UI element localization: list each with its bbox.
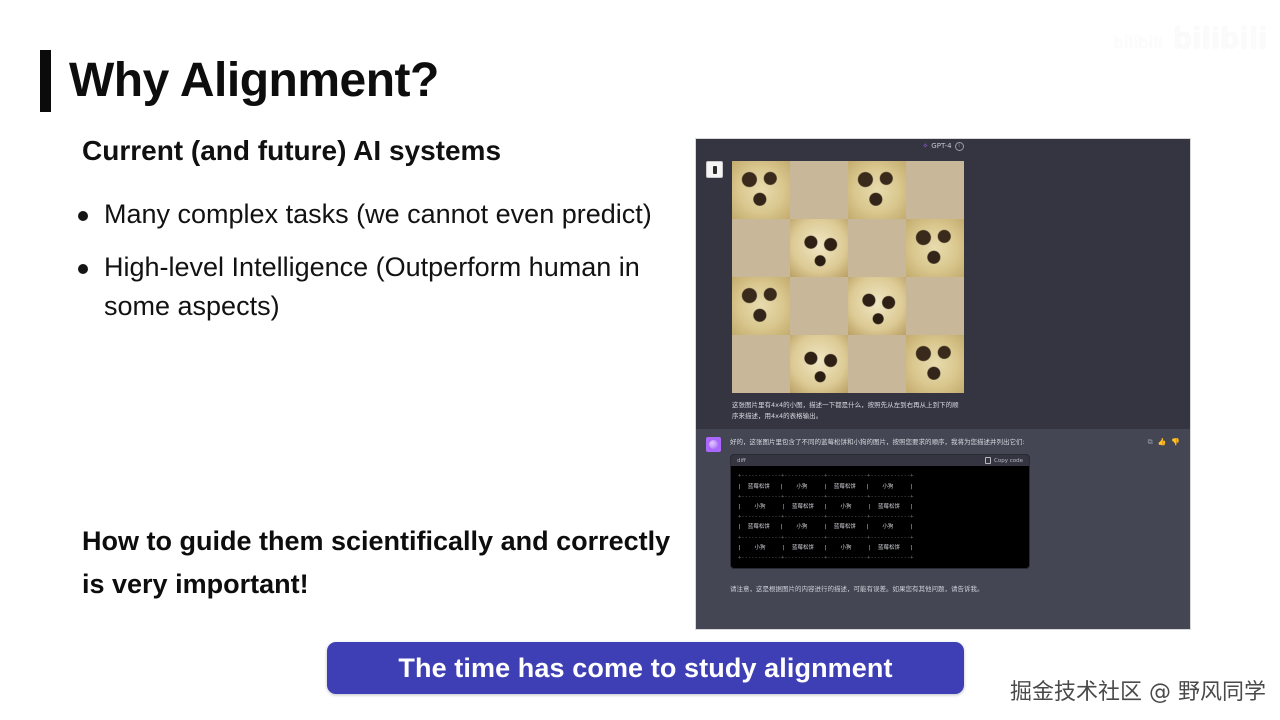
thumbs-up-icon[interactable]: 👍 [1158,438,1167,447]
grid-cell [906,335,964,393]
table-divider: +------------+------------+------------+… [738,555,914,561]
table-row: | 小狗 | 蓝莓松饼 | 小狗 | 蓝莓松饼 | [738,545,913,551]
grid-cell [732,161,790,219]
slide-title-row: Why Alignment? [40,50,439,112]
grid-cell [732,277,790,335]
sparkle-icon: ✧ [922,142,928,150]
subtitle-banner: The time has come to study alignment [327,642,964,694]
avatar [706,161,723,178]
assistant-reply-text: 好的，这张图片里包含了不同的蓝莓松饼和小狗的图片，按照您要求的顺序，我将为您描述… [730,437,1180,448]
user-message-body: 这张图片里有4x4的小图，描述一下都是什么，按照先从左到右再从上到下的顺序来描述… [732,161,1180,421]
grid-cell [848,161,906,219]
message-action-bar[interactable]: ⧉ 👍 👎 [1148,438,1180,447]
info-icon: i [955,142,964,151]
code-block-header: diff Copy code [731,455,1029,466]
grid-cell [848,335,906,393]
copy-icon[interactable]: ⧉ [1148,438,1153,447]
title-accent-bar [40,50,51,112]
table-row: | 小狗 | 蓝莓松饼 | 小狗 | 蓝莓松饼 | [738,504,913,510]
code-block: diff Copy code +------------+-----------… [730,454,1030,569]
copy-code-button[interactable]: Copy code [985,457,1023,464]
grid-cell [790,219,848,277]
conclusion-text: How to guide them scientifically and cor… [82,520,682,606]
code-language-label: diff [737,458,746,464]
table-row: | 蓝莓松饼 | 小狗 | 蓝莓松饼 | 小狗 | [738,524,913,530]
author-watermark: 掘金技术社区 @ 野风同学 [1010,674,1266,706]
thumbs-down-icon[interactable]: 👎 [1171,438,1180,447]
copy-code-label: Copy code [994,458,1023,464]
bullet-dot-icon [78,264,88,274]
copy-icon [985,457,991,464]
subtitle-text: The time has come to study alignment [398,653,892,684]
table-divider: +------------+------------+------------+… [738,535,914,541]
grid-cell [848,277,906,335]
table-divider: +------------+------------+------------+… [738,514,914,520]
bullet-text: Many complex tasks (we cannot even predi… [104,195,652,234]
chat-background-filler [696,594,1190,630]
assistant-note-text: 请注意，这是根据图片的内容进行的描述，可能有误差。如果您有其他问题，请告诉我。 [696,577,1190,594]
watermark-logo-text: bilibili [1173,22,1268,55]
grid-cell [732,335,790,393]
model-badge: ✧ GPT-4 i [922,142,963,151]
avatar [706,437,721,452]
bullet-list: Many complex tasks (we cannot even predi… [78,195,688,340]
grid-cell [790,277,848,335]
table-row: | 蓝莓松饼 | 小狗 | 蓝莓松饼 | 小狗 | [738,484,913,490]
user-message: 这张图片里有4x4的小图，描述一下都是什么，按照先从左到右再从上到下的顺序来描述… [696,153,1190,429]
chihuahua-vs-muffin-grid [732,161,964,393]
bilibili-watermark: bilibilibilibili [1114,22,1268,56]
code-block-body: +------------+------------+------------+… [731,466,1029,568]
table-divider: +------------+------------+------------+… [738,473,914,479]
list-item: High-level Intelligence (Outperform huma… [78,248,688,326]
bullet-text: High-level Intelligence (Outperform huma… [104,248,688,326]
chatgpt-screenshot: ✧ GPT-4 i [695,138,1191,630]
model-name: GPT-4 [931,142,951,150]
grid-cell [848,219,906,277]
watermark-small-text: bilibili [1114,33,1164,52]
grid-cell [790,161,848,219]
bullet-dot-icon [78,211,88,221]
presentation-slide: Why Alignment? Current (and future) AI s… [0,0,1280,720]
grid-cell [906,277,964,335]
table-divider: +------------+------------+------------+… [738,494,914,500]
list-item: Many complex tasks (we cannot even predi… [78,195,688,234]
grid-cell [790,335,848,393]
assistant-message-body: 好的，这张图片里包含了不同的蓝莓松饼和小狗的图片，按照您要求的顺序，我将为您描述… [730,437,1180,569]
slide-subheading: Current (and future) AI systems [82,135,501,167]
grid-cell [906,219,964,277]
assistant-message: 好的，这张图片里包含了不同的蓝莓松饼和小狗的图片，按照您要求的顺序，我将为您描述… [696,429,1190,577]
chat-topbar: ✧ GPT-4 i [696,139,1190,153]
grid-cell [906,161,964,219]
grid-cell [732,219,790,277]
user-prompt-text: 这张图片里有4x4的小图，描述一下都是什么，按照先从左到右再从上到下的顺序来描述… [732,400,964,421]
page-title: Why Alignment? [69,57,439,105]
